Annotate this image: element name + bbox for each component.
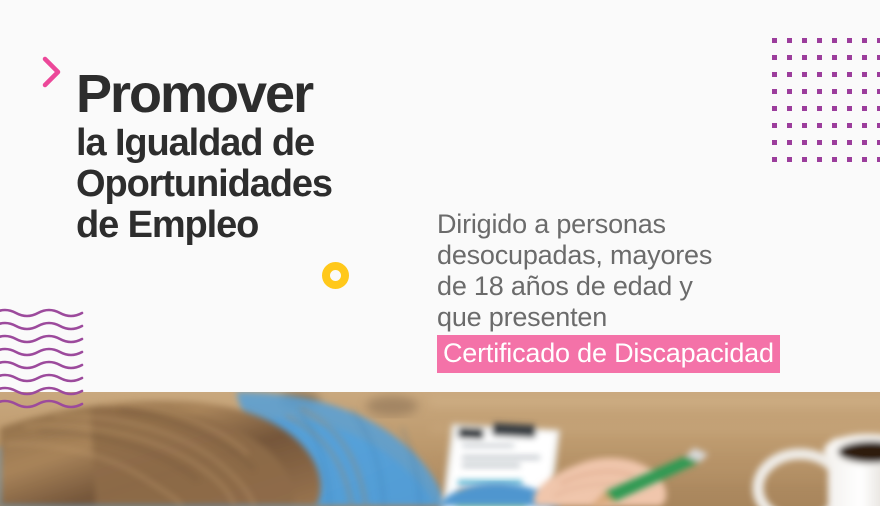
yellow-ring-decoration [322,262,349,289]
chevron-right-icon [40,55,64,89]
dot-grid-decoration [770,36,880,172]
body-line-3: de 18 años de edad y [437,271,857,302]
certificate-highlight: Certificado de Discapacidad [437,335,780,373]
headline-line-4: de Empleo [76,205,332,246]
headline-line-2: la Igualdad de [76,123,332,164]
page-title: Promover la Igualdad de Oportunidades de… [76,65,332,246]
wave-lines-decoration [0,308,86,413]
body-line-1: Dirigido a personas [437,209,857,240]
headline-line-1: Promover [76,65,332,123]
headline-line-3: Oportunidades [76,164,332,205]
employment-equality-banner: Promover la Igualdad de Oportunidades de… [0,0,880,506]
body-line-2: desocupadas, mayores [437,240,857,271]
body-line-4: que presenten [437,302,857,333]
banner-photo [0,392,880,506]
eligibility-description: Dirigido a personas desocupadas, mayores… [437,209,857,373]
